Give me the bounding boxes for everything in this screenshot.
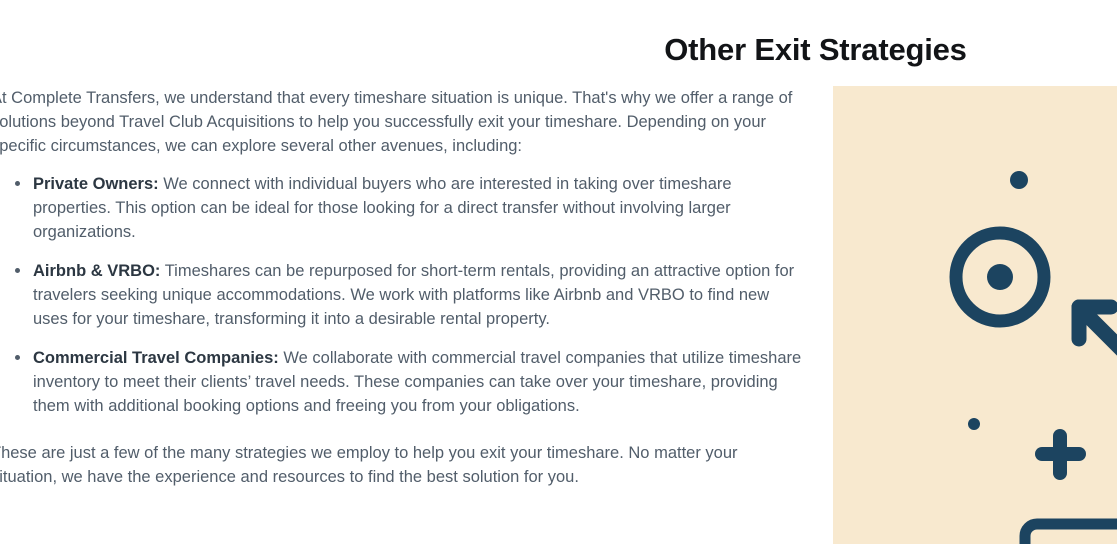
list-item-label: Airbnb & VRBO: — [33, 262, 160, 280]
page-title: Other Exit Strategies — [257, 30, 1117, 70]
bullet-dot-icon — [15, 181, 20, 186]
list-item-label: Commercial Travel Companies: — [33, 349, 279, 367]
list-item: Airbnb & VRBO: Timeshares can be repurpo… — [0, 259, 803, 331]
page-root: Other Exit Strategies At Complete Transf… — [0, 0, 1117, 544]
bullet-dot-icon — [15, 268, 20, 273]
outro-paragraph: These are just a few of the many strateg… — [0, 418, 803, 489]
list-item-label: Private Owners: — [33, 175, 159, 193]
bullet-dot-icon — [15, 355, 20, 360]
illustration-panel — [833, 86, 1117, 544]
illustration-graphic — [833, 86, 1117, 544]
small-dot-lower-icon — [968, 418, 980, 430]
arrow-up-left-icon — [1079, 307, 1117, 359]
list-item: Commercial Travel Companies: We collabor… — [0, 346, 803, 418]
target-center-dot-icon — [987, 264, 1013, 290]
list-item: Private Owners: We connect with individu… — [0, 172, 803, 244]
intro-paragraph: At Complete Transfers, we understand tha… — [0, 86, 803, 172]
article-text-column: At Complete Transfers, we understand tha… — [0, 86, 803, 489]
rounded-rectangle-outline-icon — [1025, 524, 1117, 544]
plus-icon — [1042, 436, 1079, 473]
small-dot-upper-icon — [1010, 171, 1028, 189]
strategy-list: Private Owners: We connect with individu… — [0, 172, 803, 418]
